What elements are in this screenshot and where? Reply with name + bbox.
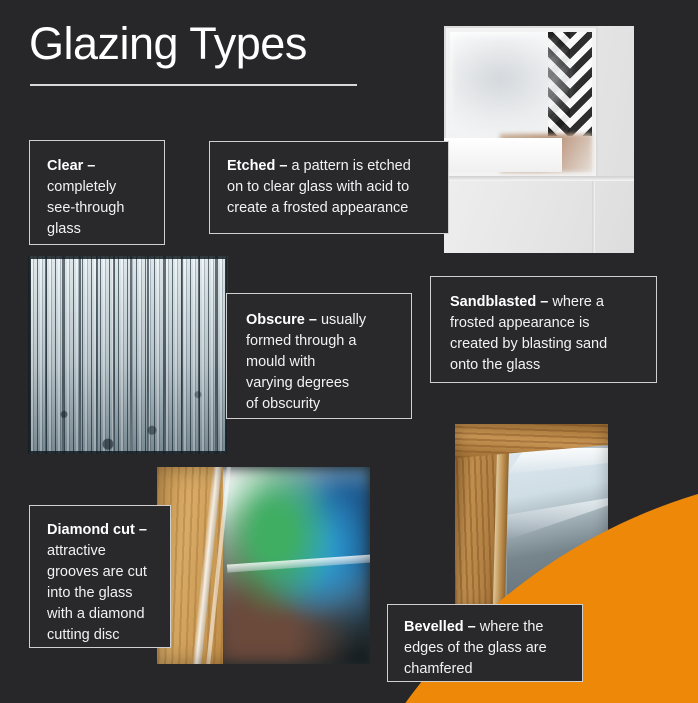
callout-sandblasted: Sandblasted – where a frosted appearance… <box>430 276 657 383</box>
glazing-types-infographic: Glazing Types <box>0 0 698 703</box>
frosted-etch-overlay <box>452 36 572 131</box>
callout-bevelled-term: Bevelled – <box>404 619 476 635</box>
callout-sandblasted-term: Sandblasted – <box>450 294 548 310</box>
callout-diamond-cut-term: Diamond cut – <box>47 522 147 538</box>
obscure-glass-edge-vignette <box>28 256 228 454</box>
callout-etched: Etched – a pattern is etched on to clear… <box>209 141 449 234</box>
photo-diamond-cut-glass <box>157 467 370 664</box>
diamond-photo-vignette <box>157 467 370 664</box>
callout-clear-term: Clear – <box>47 158 95 174</box>
photo-bevelled-glass-door <box>455 424 608 611</box>
door-panel-seam <box>592 181 595 253</box>
window-sill <box>444 138 562 172</box>
bevel-photo-vignette <box>455 424 608 611</box>
callout-diamond-cut: Diamond cut – attractive grooves are cut… <box>29 505 171 648</box>
callout-bevelled: Bevelled – where the edges of the glass … <box>387 604 583 682</box>
callout-obscure-term: Obscure – <box>246 312 317 328</box>
callout-etched-term: Etched – <box>227 158 287 174</box>
callout-obscure: Obscure – usually formed through a mould… <box>226 293 412 419</box>
callout-clear: Clear – completely see-through glass <box>29 140 165 245</box>
title-underline-rule <box>30 84 357 86</box>
callout-clear-description: completely see-through glass <box>47 177 164 240</box>
callout-diamond-cut-description: attractive grooves are cut into the glas… <box>47 541 170 646</box>
door-lower-panel <box>444 181 634 253</box>
photo-obscure-glass-texture <box>28 256 228 454</box>
page-title: Glazing Types <box>29 18 307 70</box>
photo-etched-glass-door <box>444 26 634 253</box>
